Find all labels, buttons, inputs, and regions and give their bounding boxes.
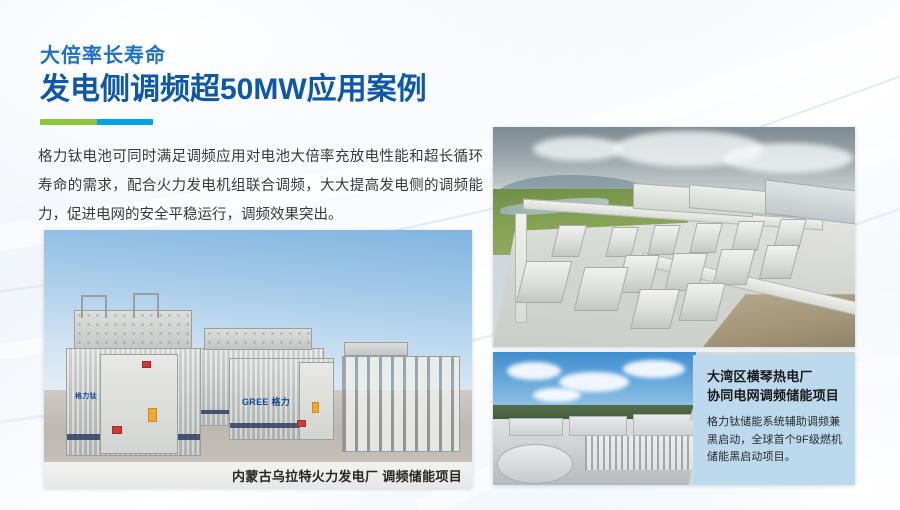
equipment-rack-cage (342, 356, 460, 452)
cloud-shape (533, 388, 581, 402)
hazard-label-orange (148, 408, 157, 422)
info-panel-description: 格力钛储能系统辅助调频兼黑启动，全球首个9F级燃机储能黑启动项目。 (707, 414, 843, 467)
cloud-shape (723, 143, 853, 173)
photo-caption-text: 内蒙古乌拉特火力发电厂 调频储能项目 (232, 466, 462, 485)
accent-bar-green-segment (40, 119, 97, 125)
roof-handrails (72, 292, 192, 318)
photo-inner-mongolia-containers: GREE 格力 格力钛 内蒙古乌拉特火力发电厂 调频储能项目 (44, 230, 472, 488)
info-panel-hengqin-project: 大湾区横琴热电厂 协同电网调频储能项目 格力钛储能系统辅助调频兼黑启动，全球首个… (693, 355, 855, 485)
gree-brand-mark: GREE 格力 (242, 395, 290, 408)
header-block: 大倍率长寿命 发电侧调频超50MW应用案例 (40, 44, 480, 125)
eyebrow-title: 大倍率长寿命 (40, 44, 480, 69)
photo-caption-bar: 内蒙古乌拉特火力发电厂 调频储能项目 (44, 462, 472, 488)
accent-bar (40, 119, 153, 125)
cloud-shape (507, 362, 561, 380)
info-panel-title: 大湾区横琴热电厂 协同电网调频储能项目 (707, 368, 843, 406)
accent-bar-blue-segment (97, 119, 154, 125)
cloud-shape (623, 360, 685, 378)
warning-label-red (297, 420, 306, 427)
container-roof-vent-distant (204, 328, 312, 350)
info-panel-title-line1: 大湾区横琴热电厂 (707, 368, 843, 387)
pipe-rack (585, 436, 697, 470)
door-indicator-red (142, 361, 151, 368)
roof-grid-pattern (205, 329, 311, 349)
photo-aerial-storage-yard (493, 127, 855, 347)
cage-top-rail (344, 342, 408, 356)
hazard-label-red (112, 426, 122, 434)
gree-brand-mark-front: 格力钛 (75, 391, 97, 401)
plant-building (509, 418, 563, 436)
plant-building (633, 414, 699, 436)
container-door-center (299, 362, 334, 440)
warning-label-orange (312, 402, 319, 413)
cloud-shape (533, 137, 623, 161)
plant-building (569, 416, 627, 436)
slide-canvas: 大倍率长寿命 发电侧调频超50MW应用案例 格力钛电池可同时满足调频应用对电池大… (0, 0, 900, 510)
info-panel-title-line2: 协同电网调频储能项目 (707, 387, 843, 406)
page-title: 发电侧调频超50MW应用案例 (40, 72, 480, 107)
container-door-front (100, 354, 178, 454)
body-paragraph: 格力钛电池可同时满足调频应用对电池大倍率充放电性能和超长循环寿命的需求，配合火力… (38, 143, 483, 230)
circular-clarifier-tank (497, 444, 573, 484)
